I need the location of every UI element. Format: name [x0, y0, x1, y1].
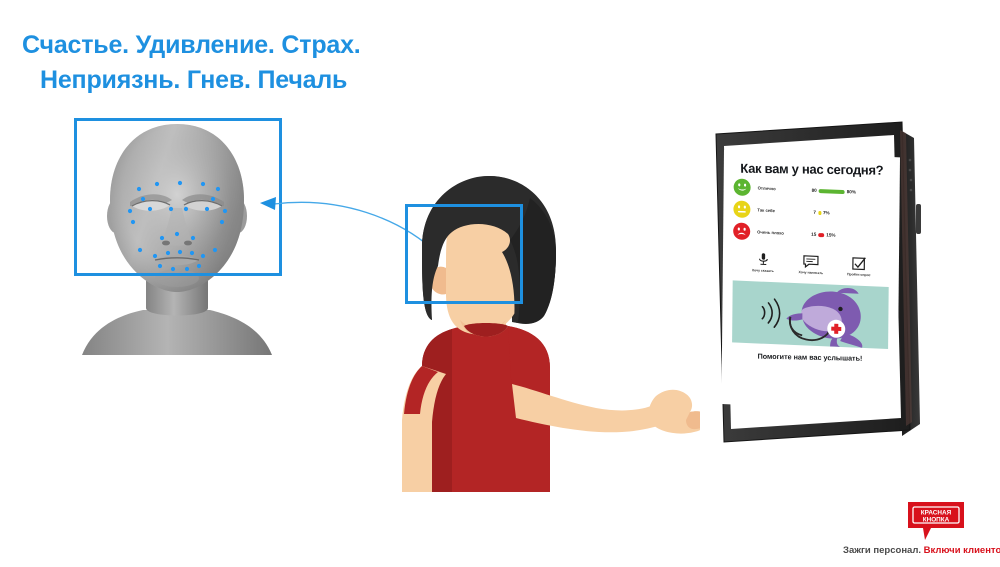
poll-row[interactable]: Очень плохо 15 15% [733, 222, 899, 246]
dolphin-with-stethoscope-icon [732, 280, 889, 349]
survey-question: Как вам у нас сегодня? [724, 160, 900, 177]
action-survey-button[interactable]: Пройти опрос [842, 256, 876, 277]
face-detection-box-woman [405, 204, 523, 304]
logo-line-1: КРАСНАЯ [921, 509, 952, 516]
action-bar: Хочу сказать Хочу написать Пройти о [723, 251, 899, 278]
tagline-accent: Включи клиентов [924, 545, 1000, 556]
poll-bar [818, 232, 824, 236]
poll-count: 15 [811, 232, 816, 237]
action-label: Хочу сказать [752, 268, 774, 273]
woman-illustration [360, 170, 700, 500]
brand-tagline: Зажги персонал. Включи клиентов [843, 545, 1000, 556]
poll-percent: 80% [847, 189, 856, 194]
brand-logo[interactable]: КРАСНАЯ КНОПКА [905, 500, 967, 547]
poll-label: Так себе [757, 207, 797, 214]
poll-bar [818, 210, 821, 214]
poll-meter: 80 80% [812, 188, 856, 195]
slide-canvas: Счастье. Удивление. Страх. Неприязнь. Гн… [0, 0, 1000, 567]
poll-meter: 7 7% [813, 210, 829, 216]
poll-label: Очень плохо [757, 229, 797, 236]
promo-banner [732, 280, 889, 349]
poll-meter: 15 15% [811, 232, 835, 238]
speech-bubble-icon [803, 254, 819, 269]
action-label: Хочу написать [798, 270, 823, 275]
action-write-button[interactable]: Хочу написать [794, 254, 828, 275]
action-speak-button[interactable]: Хочу сказать [746, 252, 780, 273]
headline-line-1: Счастье. Удивление. Страх. [22, 31, 361, 59]
red-button-logo-icon: КРАСНАЯ КНОПКА [905, 500, 967, 542]
poll-bar [819, 188, 845, 193]
arrowhead-icon [260, 197, 276, 210]
banner-caption: Помогите нам вас услышать! [722, 350, 898, 363]
headline-line-2: Неприязнь. Гнев. Печаль [22, 63, 502, 98]
poll-percent: 7% [823, 210, 830, 215]
poll-row[interactable]: Отлично 80 80% [734, 178, 900, 202]
checkbox-icon [852, 256, 866, 271]
logo-line-2: КНОПКА [923, 516, 950, 523]
smiley-happy-icon [734, 178, 751, 196]
tablet-kiosk: Как вам у нас сегодня? Отлично 80 80% [694, 112, 926, 452]
tablet-screen: Как вам у нас сегодня? Отлично 80 80% [721, 150, 900, 411]
action-label: Пройти опрос [847, 272, 870, 277]
microphone-icon [756, 252, 769, 267]
poll-row[interactable]: Так себе 7 7% [733, 200, 899, 224]
poll-count: 80 [812, 188, 817, 193]
tagline-plain: Зажги персонал. [843, 545, 921, 556]
page-title: Счастье. Удивление. Страх. Неприязнь. Гн… [22, 28, 502, 97]
poll-percent: 15% [826, 232, 835, 237]
smiley-sad-icon [733, 222, 750, 240]
poll-label: Отлично [758, 185, 798, 192]
poll-count: 7 [813, 210, 816, 215]
smiley-neutral-icon [733, 200, 750, 218]
